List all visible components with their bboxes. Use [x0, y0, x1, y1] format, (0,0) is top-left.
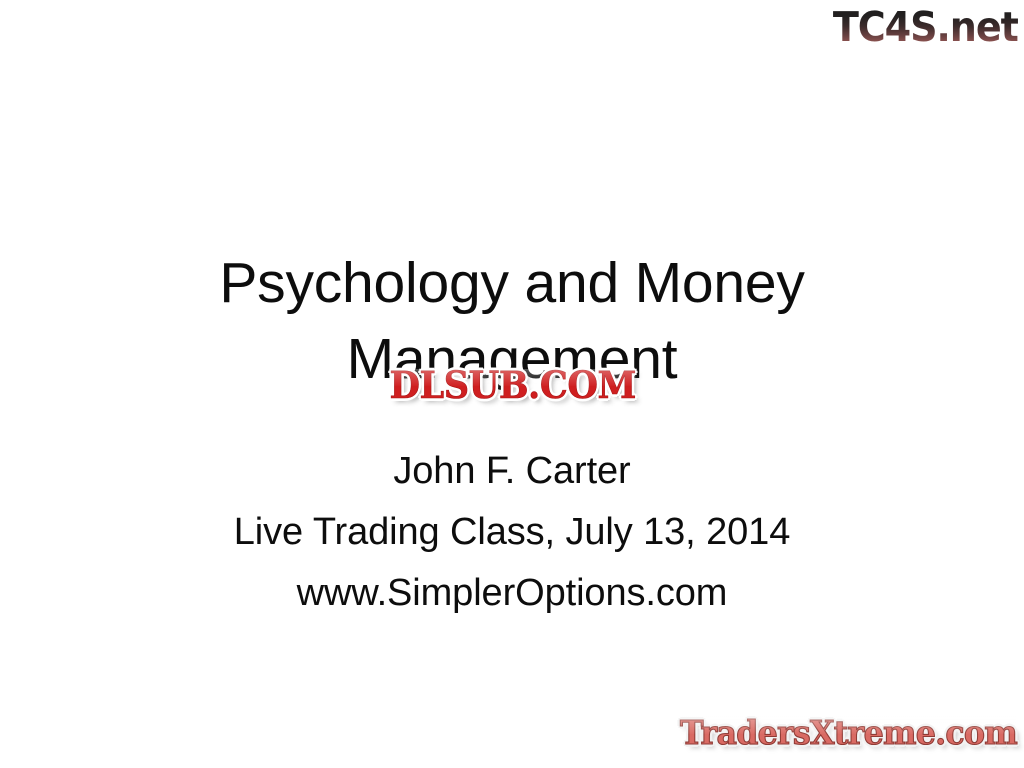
- tradersxtreme-logo-text: TradersXtreme.com: [680, 713, 1017, 753]
- tc4s-watermark-text: TC4S.net: [833, 4, 1018, 50]
- slide-subtitle-line-3: www.SimplerOptions.com: [130, 563, 894, 624]
- slide-subtitle: John F. Carter Live Trading Class, July …: [130, 441, 894, 624]
- tc4s-watermark: TC4S.net TC4S.net: [828, 2, 1018, 52]
- tradersxtreme-logo: TradersXtreme.com: [676, 706, 1020, 760]
- presentation-slide: TC4S.net TC4S.net Psychology and Money M…: [0, 0, 1024, 768]
- slide-subtitle-line-2: Live Trading Class, July 13, 2014: [130, 502, 894, 563]
- slide-title-line-1: Psychology and Money: [130, 245, 894, 321]
- slide-subtitle-line-1: John F. Carter: [130, 441, 894, 502]
- slide-title-line-2: Management: [130, 321, 894, 397]
- slide-title: Psychology and Money Management: [130, 245, 894, 397]
- tc4s-watermark-shadow: TC4S.net: [835, 5, 1020, 51]
- tradersxtreme-logo-gloss: [680, 716, 1017, 734]
